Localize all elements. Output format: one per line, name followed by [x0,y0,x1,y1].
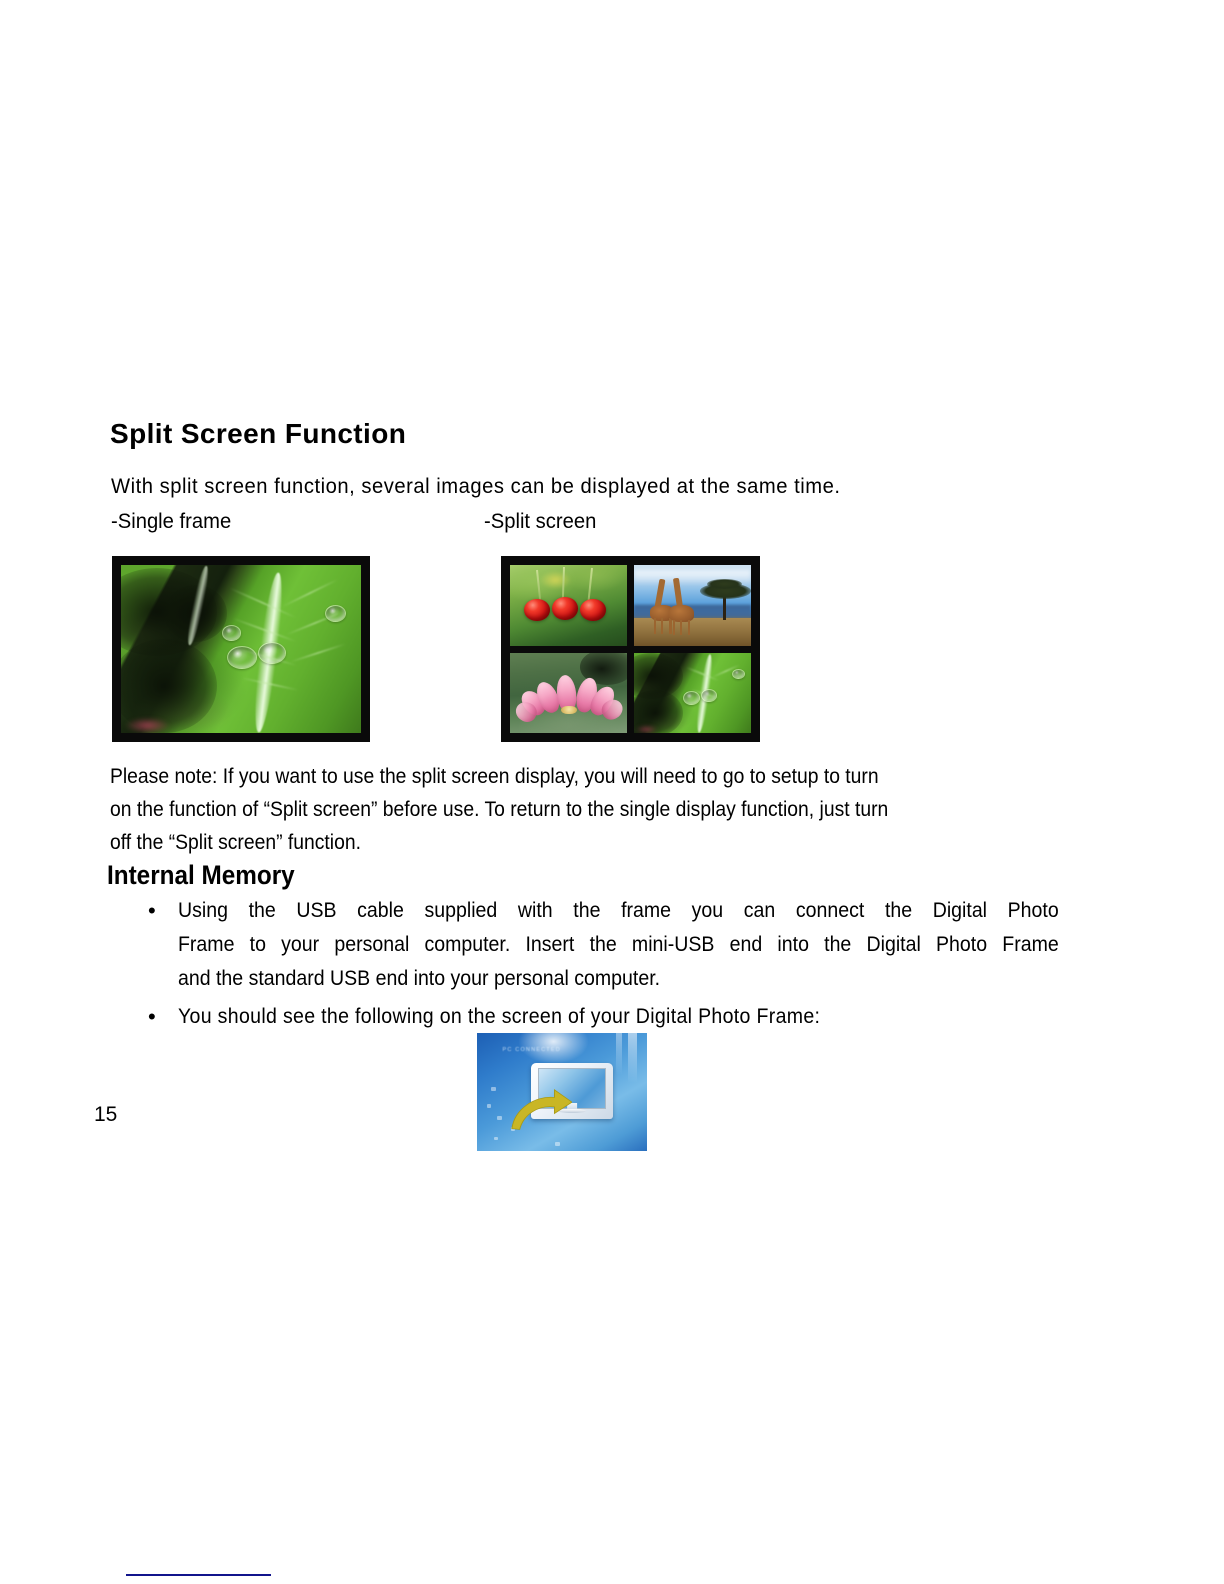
split-cell-lotus [510,653,627,734]
figure-split-screen [501,556,760,742]
screen-light-band [628,1033,637,1083]
water-droplet [732,669,745,679]
internal-memory-bullet-list: • Using the USB cable supplied with the … [140,894,1125,1034]
list-item-text: Using the USB cable supplied with the fr… [178,894,1059,996]
note-line-3: off the “Split screen” function. [110,826,1030,859]
bullet-2-line-1: You should see the following on the scre… [178,1000,1059,1034]
figure-pc-connected: PC CONNECTED [477,1033,647,1151]
bullet-1-line-1: Using the USB cable supplied with the fr… [178,894,1059,928]
bullet-marker-icon: • [140,894,178,928]
label-single-frame: -Single frame [111,509,231,534]
bullet-marker-icon: • [140,1000,178,1034]
split-cell-leaf [634,653,751,734]
leaf-photo-illustration [121,565,361,733]
bullet-1-line-2: Frame to your personal computer. Insert … [178,928,1059,962]
note-line-2: on the function of “Split screen” before… [110,793,1030,826]
footer-divider [126,1574,271,1576]
intro-paragraph: With split screen function, several imag… [111,474,841,499]
note-line-1: Please note: If you want to use the spli… [110,760,1030,793]
internal-memory-heading: Internal Memory [107,860,295,891]
page-title: Split Screen Function [110,418,406,450]
split-cell-cherries [510,565,627,646]
bullet-1-line-3: and the standard USB end into your perso… [178,962,1059,996]
water-droplet [222,625,241,640]
list-item: • You should see the following on the sc… [140,1000,1125,1034]
figure-single-frame [112,556,370,742]
single-frame-photo [121,565,361,733]
document-page: Split Screen Function With split screen … [0,0,1224,1584]
please-note-paragraph: Please note: If you want to use the spli… [110,760,1030,859]
list-item-text: You should see the following on the scre… [178,1000,1059,1034]
split-cell-giraffes [634,565,751,646]
water-droplet [701,689,717,702]
water-droplet [227,646,258,670]
yellow-arrow-icon [508,1088,573,1130]
page-number: 15 [94,1103,117,1127]
pc-connected-overlay-text: PC CONNECTED [503,1047,561,1053]
screen-light-band [616,1033,621,1075]
water-droplet [325,605,346,622]
label-split-screen: -Split screen [484,509,596,534]
split-screen-grid [510,565,751,733]
list-item: • Using the USB cable supplied with the … [140,894,1125,996]
